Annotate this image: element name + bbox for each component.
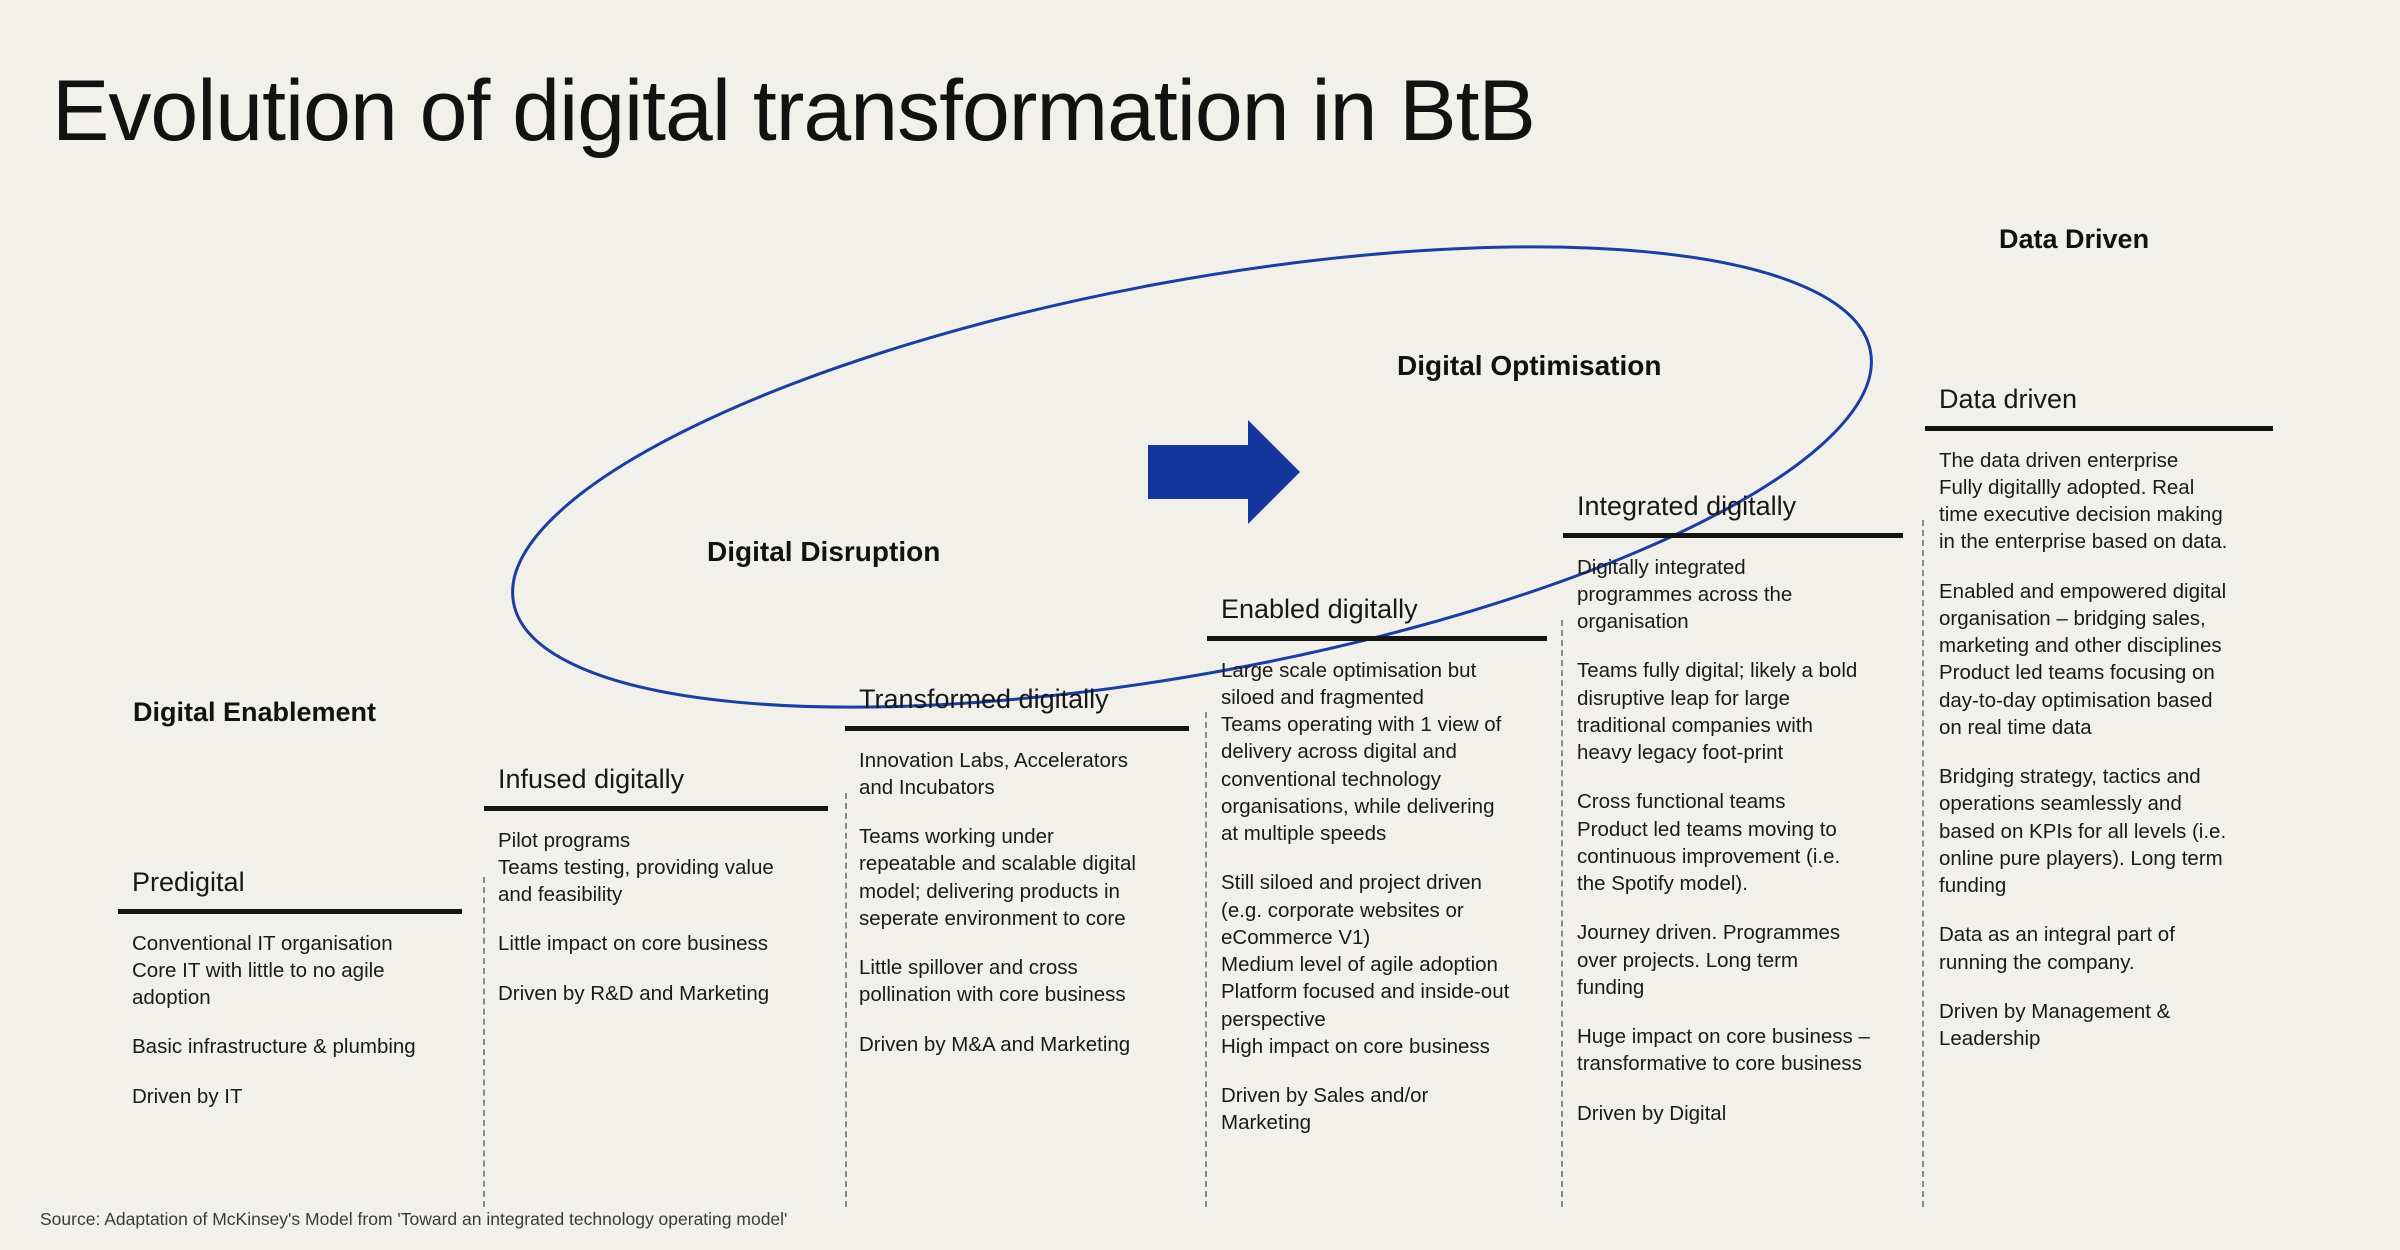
- column-divider: [1922, 520, 1924, 1207]
- stage-column-title: Transformed digitally: [845, 685, 1180, 715]
- stage-paragraph: Bridging strategy, tactics and operation…: [1939, 763, 2273, 899]
- stage-paragraph: Little impact on core business: [498, 930, 819, 957]
- stage-column-transformed-digitally: Transformed digitally Innovation Labs, A…: [845, 685, 1180, 1058]
- stage-column-title: Predigital: [118, 868, 453, 898]
- stage-column-title: Integrated digitally: [1563, 492, 1898, 522]
- stage-column-rule: [1563, 533, 1903, 538]
- stage-paragraph: Basic infrastructure & plumbing: [132, 1033, 453, 1060]
- stage-paragraph: Driven by Sales and/or Marketing: [1221, 1082, 1542, 1137]
- stage-paragraph: Driven by R&D and Marketing: [498, 980, 819, 1007]
- stage-paragraph: Little spillover and cross pollination w…: [859, 954, 1180, 1009]
- stage-paragraph: Digitally integrated programmes across t…: [1577, 554, 1898, 636]
- stage-column-body: Large scale optimisation but siloed and …: [1207, 657, 1542, 1137]
- stage-paragraph: Huge impact on core business – transform…: [1577, 1023, 1898, 1078]
- stage-column-body: The data driven enterprise Fully digital…: [1925, 447, 2273, 1053]
- stage-column-infused-digitally: Infused digitally Pilot programs Teams t…: [484, 765, 819, 1007]
- stage-paragraph: Enabled and empowered digital organisati…: [1939, 578, 2273, 742]
- stage-paragraph: Teams fully digital; likely a bold disru…: [1577, 657, 1898, 766]
- stage-paragraph: Driven by M&A and Marketing: [859, 1031, 1180, 1058]
- stage-paragraph: Driven by IT: [132, 1083, 453, 1110]
- ellipse-label-disruption: Digital Disruption: [707, 536, 940, 568]
- stage-column-body: Digitally integrated programmes across t…: [1563, 554, 1898, 1127]
- stage-paragraph: Innovation Labs, Accelerators and Incuba…: [859, 747, 1180, 802]
- stage-paragraph: Still siloed and project driven (e.g. co…: [1221, 869, 1542, 1060]
- stage-column-integrated-digitally: Integrated digitally Digitally integrate…: [1563, 492, 1898, 1127]
- stage-column-title: Enabled digitally: [1207, 595, 1542, 625]
- stage-paragraph: Journey driven. Programmes over projects…: [1577, 919, 1898, 1001]
- slide-canvas: Evolution of digital transformation in B…: [0, 0, 2400, 1250]
- stage-paragraph: Conventional IT organisation Core IT wit…: [132, 930, 453, 1012]
- page-title: Evolution of digital transformation in B…: [52, 62, 1535, 161]
- stage-paragraph: Pilot programs Teams testing, providing …: [498, 827, 819, 909]
- stage-paragraph: Driven by Management & Leadership: [1939, 998, 2273, 1053]
- stage-column-predigital: Predigital Conventional IT organisation …: [118, 868, 453, 1110]
- stage-column-rule: [118, 909, 462, 914]
- phase-heading-digital-enablement: Digital Enablement: [133, 697, 376, 728]
- stage-column-title: Data driven: [1925, 385, 2273, 415]
- source-note: Source: Adaptation of McKinsey's Model f…: [40, 1209, 787, 1230]
- stage-paragraph: The data driven enterprise Fully digital…: [1939, 447, 2273, 556]
- stage-paragraph: Teams working under repeatable and scala…: [859, 823, 1180, 932]
- stage-column-body: Conventional IT organisation Core IT wit…: [118, 930, 453, 1110]
- stage-column-body: Pilot programs Teams testing, providing …: [484, 827, 819, 1007]
- ellipse-label-optimisation: Digital Optimisation: [1397, 350, 1661, 382]
- stage-column-rule: [1207, 636, 1547, 641]
- stage-column-rule: [1925, 426, 2273, 431]
- stage-column-body: Innovation Labs, Accelerators and Incuba…: [845, 747, 1180, 1058]
- stage-paragraph: Cross functional teams Product led teams…: [1577, 788, 1898, 897]
- stage-column-title: Infused digitally: [484, 765, 819, 795]
- stage-paragraph: Driven by Digital: [1577, 1100, 1898, 1127]
- stage-column-enabled-digitally: Enabled digitally Large scale optimisati…: [1207, 595, 1542, 1137]
- phase-heading-data-driven: Data Driven: [1999, 224, 2149, 255]
- stage-column-data-driven: Data driven The data driven enterprise F…: [1925, 385, 2273, 1052]
- right-arrow-icon: [1148, 420, 1300, 524]
- stage-paragraph: Data as an integral part of running the …: [1939, 921, 2273, 976]
- stage-column-rule: [845, 726, 1189, 731]
- stage-paragraph: Large scale optimisation but siloed and …: [1221, 657, 1542, 848]
- stage-column-rule: [484, 806, 828, 811]
